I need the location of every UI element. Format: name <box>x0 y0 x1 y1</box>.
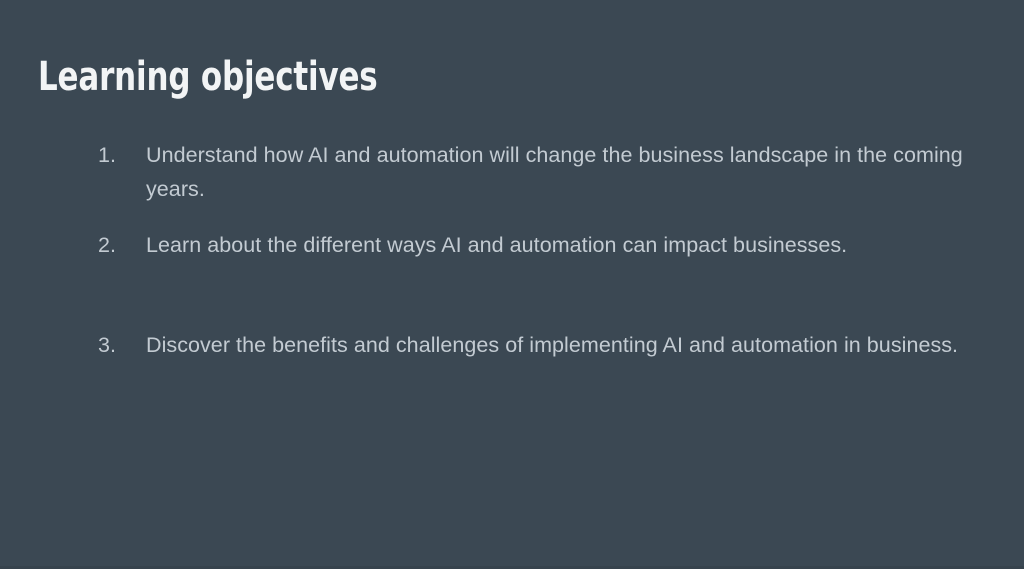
list-item-text: Discover the benefits and challenges of … <box>146 328 985 362</box>
list-item: 1. Understand how AI and automation will… <box>0 138 1024 206</box>
list-item-text: Learn about the different ways AI and au… <box>146 228 985 262</box>
presentation-slide: Learning objectives 1. Understand how AI… <box>0 0 1024 569</box>
page-title: Learning objectives <box>38 54 378 100</box>
list-item-text: Understand how AI and automation will ch… <box>146 138 985 206</box>
list-item-number: 3. <box>98 328 138 362</box>
list-item: 2. Learn about the different ways AI and… <box>0 228 1024 262</box>
list-item: 3. Discover the benefits and challenges … <box>0 328 1024 362</box>
list-item-number: 1. <box>98 138 138 172</box>
learning-objectives-list: 1. Understand how AI and automation will… <box>0 138 1024 362</box>
list-item-number: 2. <box>98 228 138 262</box>
